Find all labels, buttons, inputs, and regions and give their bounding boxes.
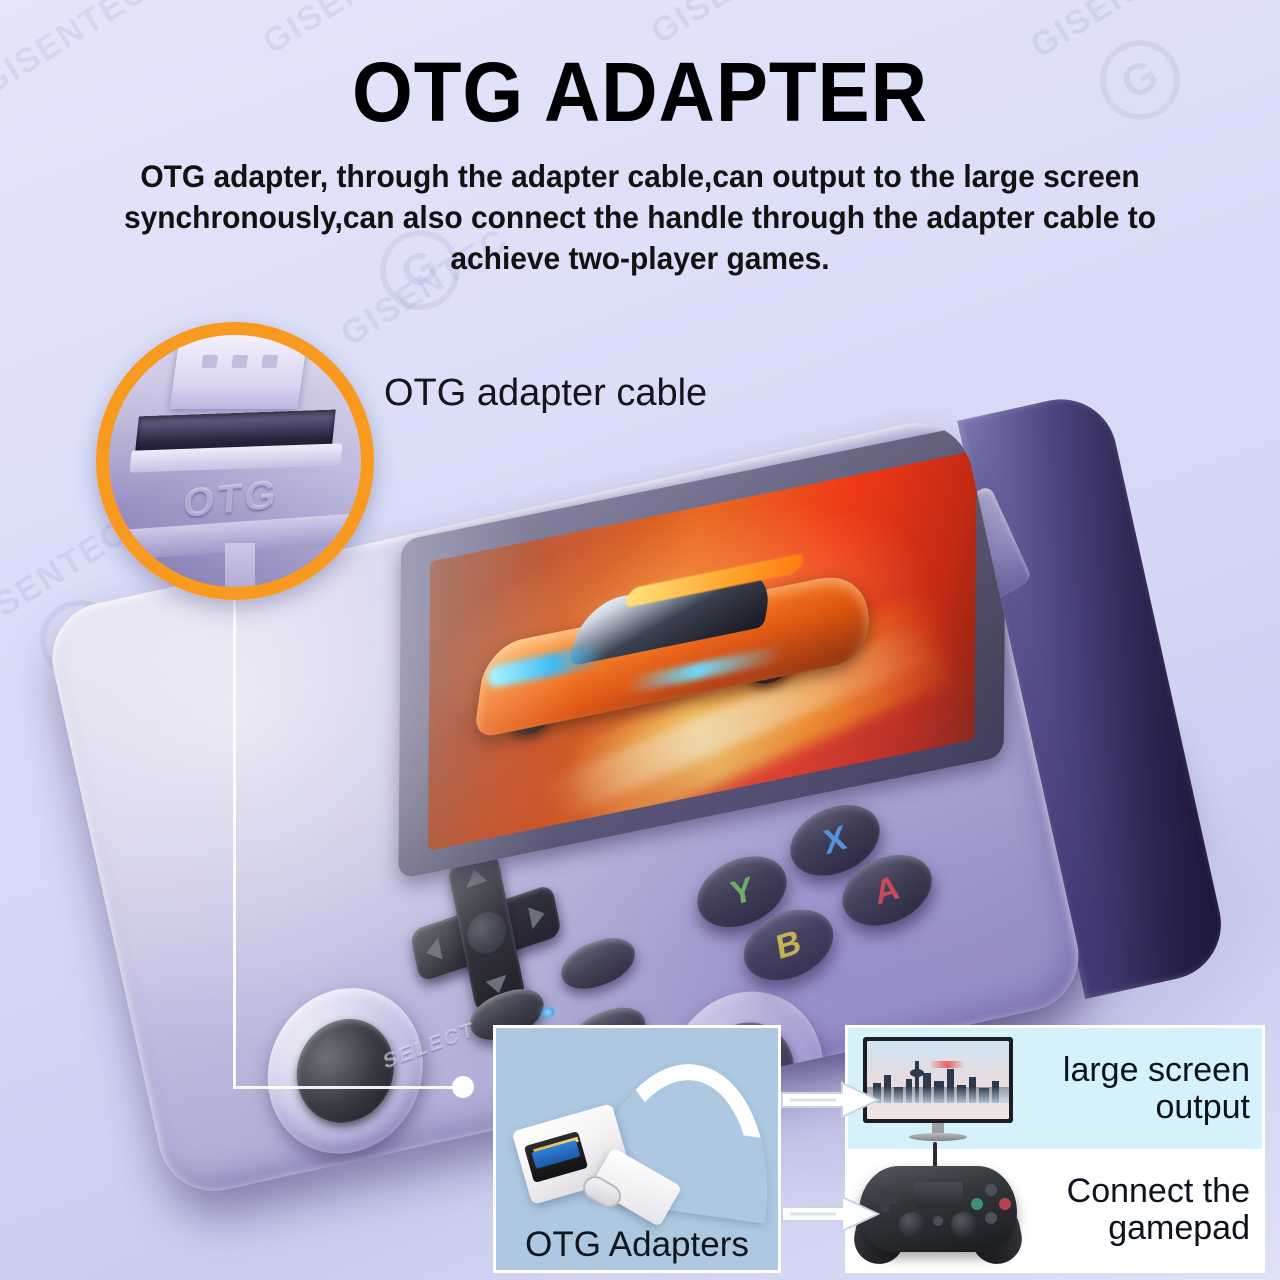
magnified-usb-connector [170, 331, 309, 409]
button-a-label: A [872, 867, 902, 913]
connect-gamepad-row: Connect the gamepad [848, 1149, 1262, 1270]
screen-reflection [428, 450, 977, 851]
console-screen [428, 450, 977, 851]
caption-line-1: large screen [1028, 1052, 1250, 1088]
otg-cable-illustration [510, 1046, 772, 1226]
dpad-left-arrow-icon [424, 938, 443, 964]
car-cabin [569, 565, 775, 666]
output-options-panel: large screen output Connect th [845, 1025, 1265, 1273]
car-roof-stripe [623, 553, 806, 609]
button-a[interactable]: A [837, 844, 937, 937]
speed-trail-highlight [545, 619, 936, 822]
gamepad-right-stick [951, 1212, 977, 1238]
page-title: OTG ADAPTER [45, 0, 1235, 134]
otg-adapter-panel: OTG Adapters [493, 1025, 781, 1273]
large-screen-output-row: large screen output [848, 1028, 1262, 1149]
callout-leader-horizontal [233, 1086, 465, 1089]
button-y-label: Y [728, 869, 756, 914]
usb-c-port [378, 1162, 466, 1200]
racing-car-graphic [479, 538, 900, 767]
monitor-frame [863, 1037, 1013, 1123]
car-headlight-glow [488, 643, 605, 689]
city-skyline [867, 1059, 1009, 1103]
connector-notch [231, 355, 248, 368]
dpad-right-arrow-icon [528, 903, 547, 929]
dpad-hub [464, 907, 510, 959]
callout-target-dot [452, 1076, 474, 1098]
select-label: SELECT [382, 1018, 477, 1075]
car-underglow [624, 645, 785, 694]
large-screen-output-caption: large screen output [1028, 1052, 1262, 1124]
magnified-shell-post [225, 543, 255, 600]
gamepad-face-button [971, 1198, 983, 1210]
caption-line-2: gamepad [1028, 1210, 1250, 1246]
caption-line-1: Connect the [1028, 1173, 1250, 1209]
arrow-to-gamepad-icon [780, 1194, 880, 1234]
connector-notch [261, 355, 278, 368]
button-x[interactable]: X [785, 794, 885, 887]
dpad-horizontal [409, 884, 562, 983]
monitor-stand-base [909, 1133, 967, 1141]
header: OTG ADAPTER OTG adapter, through the ada… [0, 0, 1280, 279]
gamepad-home-button [933, 1216, 943, 1226]
car-wheel [741, 618, 798, 689]
gamepad-cord [933, 1142, 937, 1168]
dpad[interactable] [399, 834, 571, 1030]
dpad-up-arrow-icon [463, 866, 487, 888]
monitor-screen [867, 1041, 1009, 1119]
dpad-down-arrow-icon [486, 975, 510, 997]
console-screen-bezel [398, 418, 1006, 880]
button-x-label: X [821, 818, 849, 863]
otg-port-magnifier: OTG [96, 322, 374, 600]
connector-notch [201, 355, 218, 368]
water-reflection [867, 1087, 1009, 1103]
car-wheel [505, 675, 556, 739]
vent-hole [274, 1191, 287, 1202]
car-body [473, 567, 876, 739]
vent-hole [253, 1196, 266, 1202]
button-y[interactable]: Y [692, 845, 792, 938]
page-subtitle: OTG adapter, through the adapter cable,c… [108, 156, 1172, 279]
button-b-label: B [773, 922, 803, 968]
otg-cable-label: OTG adapter cable [384, 372, 707, 415]
vent-hole [296, 1186, 309, 1199]
function-button[interactable] [558, 930, 639, 997]
caption-line-2: output [1028, 1089, 1250, 1125]
callout-leader-line [233, 600, 236, 1088]
otg-panel-caption: OTG Adapters [525, 1227, 749, 1264]
left-stick-cap [286, 1005, 404, 1136]
speed-trail [569, 589, 952, 842]
power-led-indicator [541, 1006, 556, 1019]
gamepad-face-button [985, 1184, 997, 1196]
gamepad-face-button [985, 1212, 997, 1224]
gamepad-face-button [999, 1198, 1011, 1210]
gamepad-left-stick [899, 1212, 925, 1238]
button-b[interactable]: B [739, 899, 839, 992]
gamepad-touchpad [913, 1182, 963, 1208]
connect-gamepad-caption: Connect the gamepad [1028, 1173, 1262, 1245]
vent-hole [317, 1181, 330, 1194]
dpad-vertical [447, 850, 526, 1015]
arrow-to-large-screen-icon [780, 1080, 880, 1120]
left-analog-stick[interactable] [250, 965, 440, 1177]
